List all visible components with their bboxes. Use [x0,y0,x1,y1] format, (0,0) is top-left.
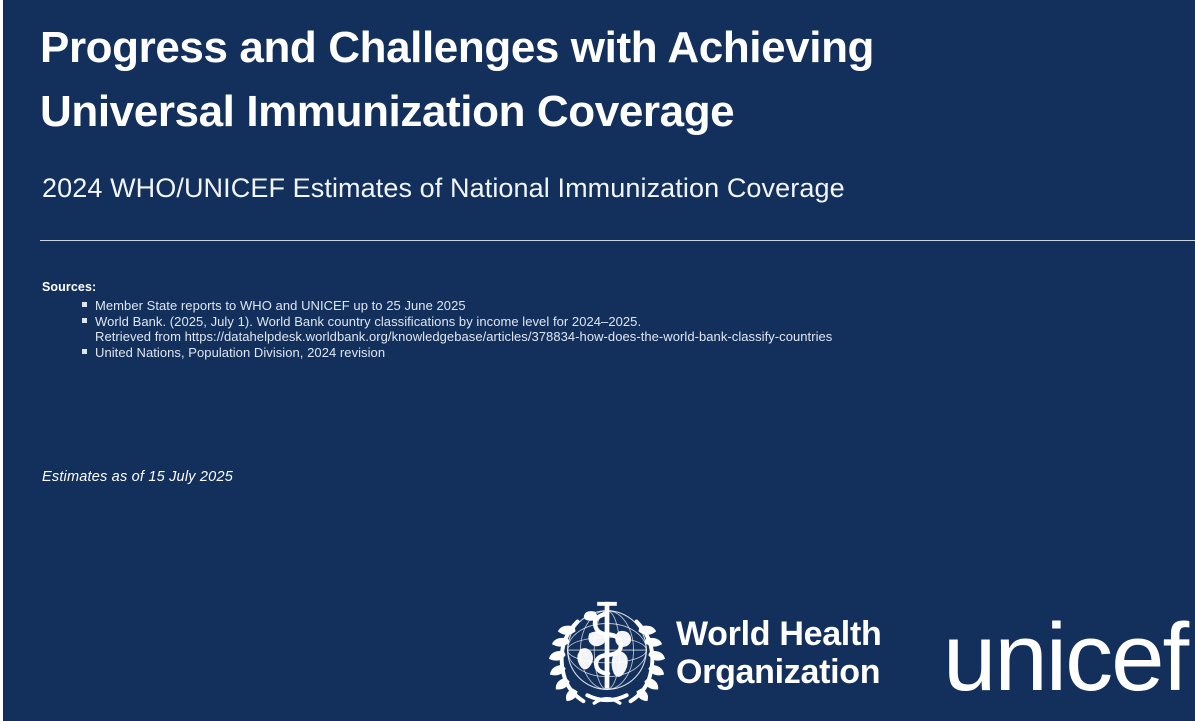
source-text-line-1: United Nations, Population Division, 202… [95,345,385,360]
who-emblem-icon [548,594,666,712]
list-item: Member State reports to WHO and UNICEF u… [42,298,1092,314]
page-subtitle: 2024 WHO/UNICEF Estimates of National Im… [42,173,845,204]
who-wordmark: World Health Organization [676,615,881,691]
title-slide: Progress and Challenges with Achieving U… [0,0,1195,721]
source-text-line-1: Member State reports to WHO and UNICEF u… [95,298,466,313]
unicef-wordmark: unicef [943,598,1187,718]
sources-label: Sources: [42,280,1092,294]
title-block: Progress and Challenges with Achieving U… [40,16,1040,144]
page-title-line-1: Progress and Challenges with Achieving [40,23,874,72]
page-title-line-2: Universal Immunization Coverage [40,87,734,136]
who-wordmark-line-1: World Health [676,615,881,653]
page-title: Progress and Challenges with Achieving U… [40,16,1040,144]
source-text-line-2: Retrieved from https://datahelpdesk.worl… [95,329,1092,345]
list-item: United Nations, Population Division, 202… [42,345,1092,361]
estimates-date-note: Estimates as of 15 July 2025 [42,469,233,485]
who-wordmark-line-2: Organization [676,653,880,691]
header-divider [40,240,1195,241]
source-text-line-1: World Bank. (2025, July 1). World Bank c… [95,314,641,329]
unicef-logo: unicef [943,598,1195,718]
who-logo: World Health Organization [548,590,881,716]
bullet-square-icon [82,302,87,307]
sources-block: Sources: Member State reports to WHO and… [42,280,1092,360]
list-item: World Bank. (2025, July 1). World Bank c… [42,314,1092,345]
unicef-emblem-icon [1189,616,1195,708]
bullet-square-icon [82,349,87,354]
logo-row: World Health Organization unicef [543,590,1195,721]
sources-list: Member State reports to WHO and UNICEF u… [42,298,1092,360]
bullet-square-icon [82,318,87,323]
